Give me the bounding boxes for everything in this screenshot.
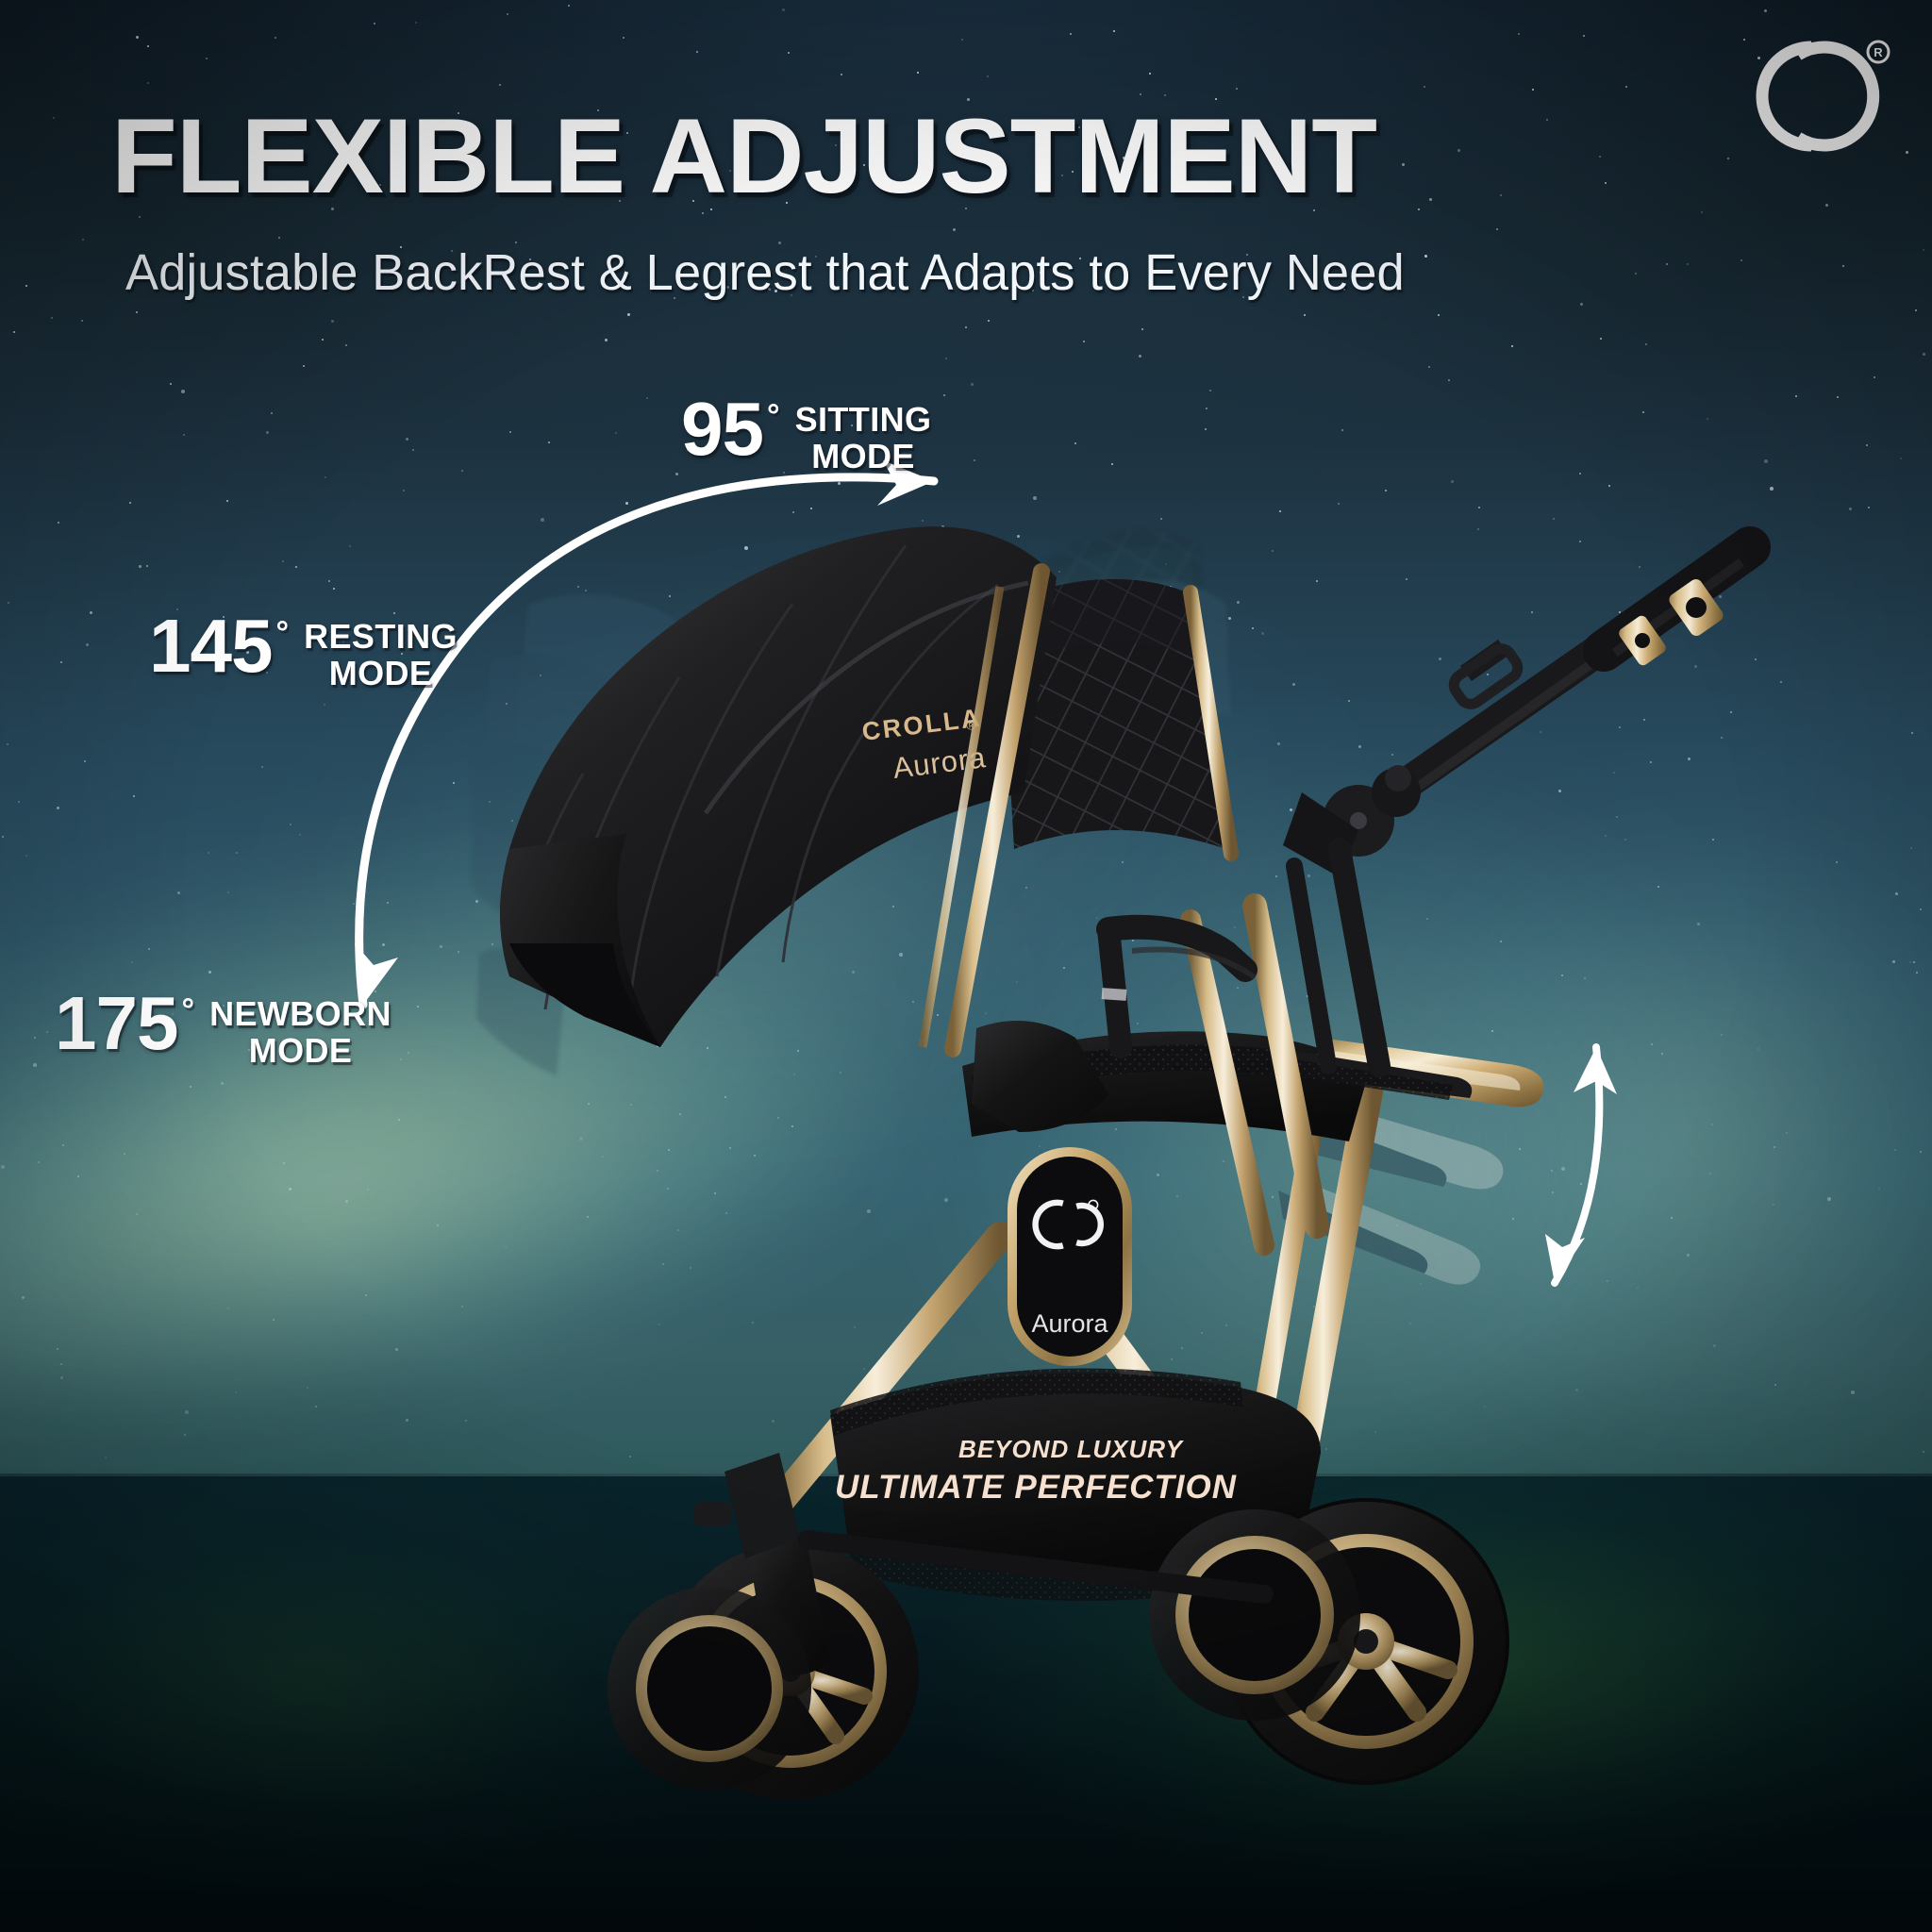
callout-sitting-degree-symbol: ° [767, 400, 780, 432]
rear-wheel [1149, 1500, 1507, 1783]
callout-newborn-label-line1: NEWBORN [209, 996, 391, 1033]
frame-link-bar [1340, 849, 1379, 1066]
callout-resting-mode: 145 ° RESTING MODE [149, 611, 458, 685]
basket-tagline-line1: BEYOND LUXURY [958, 1435, 1185, 1463]
callout-sitting-angle: 95 [681, 394, 763, 464]
callout-newborn-degree-symbol: ° [181, 994, 194, 1026]
callout-sitting-label: SITTING MODE [795, 402, 932, 475]
bumper-bar [1102, 927, 1255, 1047]
callout-resting-label-line2: MODE [304, 656, 458, 692]
callout-resting-angle: 145 [149, 611, 272, 681]
marketing-banner: FLEXIBLE ADJUSTMENT Adjustable BackRest … [0, 0, 1932, 1932]
hub-badge-model: Aurora [1031, 1309, 1108, 1338]
callout-resting-label: RESTING MODE [304, 619, 458, 692]
callout-sitting-label-line1: SITTING [795, 402, 932, 439]
callout-resting-label-line1: RESTING [304, 619, 458, 656]
callout-newborn-angle: 175 [55, 989, 177, 1058]
callout-newborn-label-line2: MODE [209, 1033, 391, 1070]
callout-resting-degree-symbol: ° [275, 617, 289, 649]
stroller-product-image: BEYOND LUXURY ULTIMATE PERFECTION [0, 0, 1932, 1932]
handlebar [1283, 547, 1750, 877]
callout-sitting-mode: 95 ° SITTING MODE [681, 394, 931, 468]
callout-sitting-label-line2: MODE [795, 439, 932, 475]
callout-newborn-mode: 175 ° NEWBORN MODE [55, 989, 391, 1062]
hub-badge: Aurora [1008, 1147, 1132, 1366]
basket-tagline-line2: ULTIMATE PERFECTION [835, 1469, 1237, 1506]
callout-newborn-label: NEWBORN MODE [209, 996, 391, 1070]
